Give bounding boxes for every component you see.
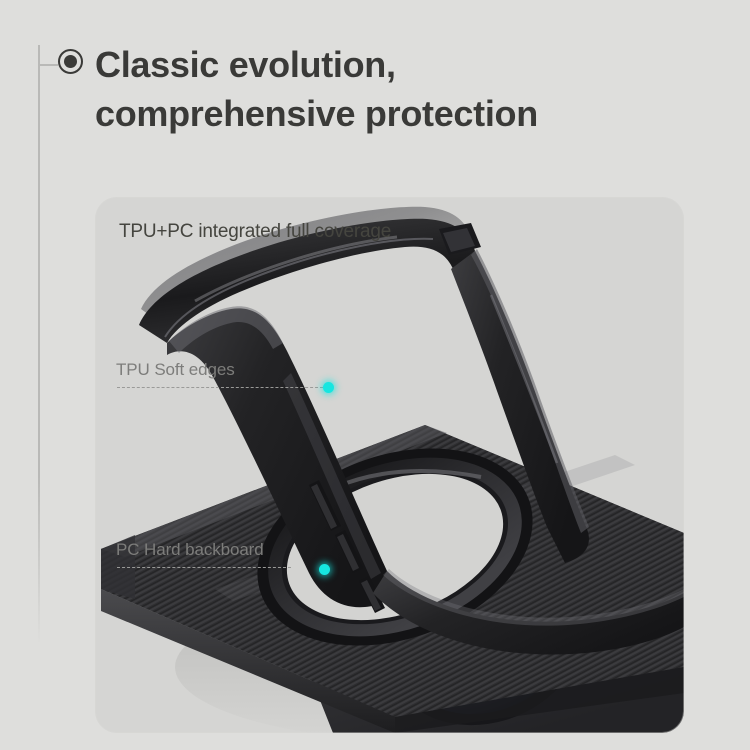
- callout-label: PC Hard backboard: [116, 540, 264, 560]
- callout-pc-hard-backboard: PC Hard backboard: [116, 540, 264, 560]
- decorative-vertical-rule: [38, 45, 40, 645]
- page-title: Classic evolution, comprehensive protect…: [95, 40, 538, 138]
- callout-tpu-soft-edges: TPU Soft edges: [116, 360, 235, 380]
- product-feature-card: TPU+PC integrated full coverage: [95, 197, 684, 733]
- radio-inner-dot: [64, 55, 77, 68]
- callout-label: TPU Soft edges: [116, 360, 235, 380]
- callout-endpoint-dot: [319, 564, 330, 575]
- callout-endpoint-dot: [323, 382, 334, 393]
- decorative-horizontal-tick: [38, 64, 58, 66]
- heading-block: Classic evolution, comprehensive protect…: [58, 40, 538, 138]
- radio-filled-icon: [58, 49, 83, 74]
- callout-leader-line: [117, 567, 291, 568]
- callout-leader-line: [117, 387, 323, 388]
- card-caption: TPU+PC integrated full coverage: [119, 221, 391, 243]
- product-photo: [95, 197, 684, 733]
